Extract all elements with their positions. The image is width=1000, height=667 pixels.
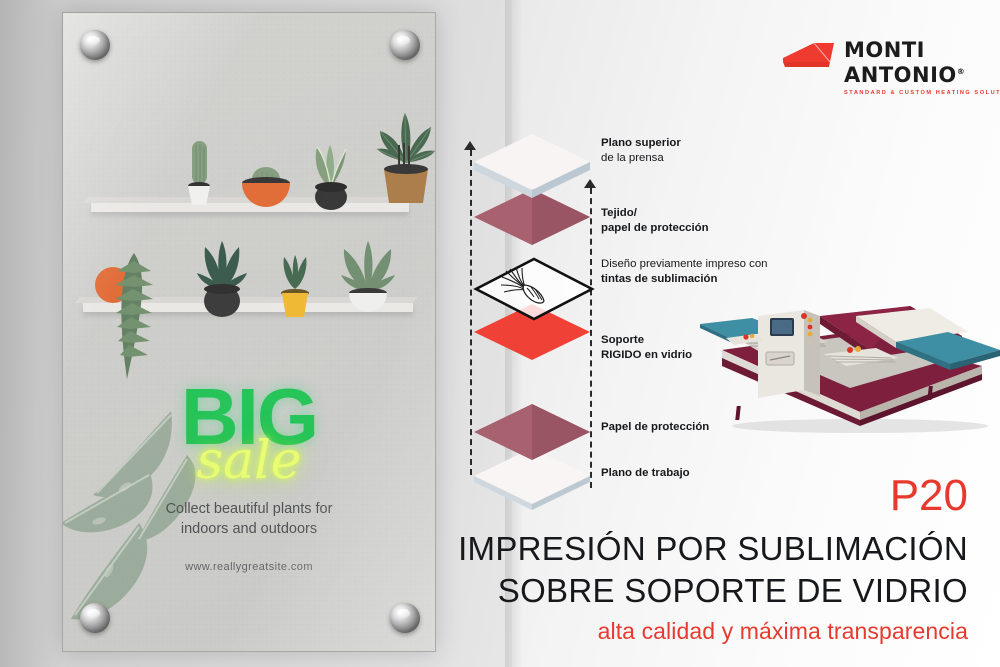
- poster-script-word: sale: [63, 431, 435, 491]
- brand-name-text: MONTI ANTONIO: [844, 38, 957, 87]
- plant-agave-black-pot: [191, 239, 253, 324]
- plant-snake-black-pot: [301, 141, 361, 216]
- brand-logo[interactable]: MONTI ANTONIO® STANDARD & CUSTOM HEATING…: [780, 40, 1000, 96]
- label-plano-superior-line2: de la prensa: [601, 152, 664, 164]
- headline-line1: IMPRESIÓN POR SUBLIMACIÓN: [458, 530, 968, 568]
- monti-antonio-mark-icon: [780, 40, 836, 74]
- standoff-bottom-right: [390, 603, 420, 633]
- label-tejido-papel-line1: Tejido/: [601, 207, 637, 219]
- layer-diseno-impreso: [472, 255, 596, 330]
- standoff-top-left: [80, 30, 110, 60]
- headline-subtitle: alta calidad y máxima transparencia: [598, 617, 968, 645]
- layer-plano-superior: [472, 128, 592, 205]
- plant-fern-hanging: [109, 251, 159, 386]
- poster-canvas: BIG sale Collect beautiful plants for in…: [0, 0, 1000, 667]
- poster-tagline-line1: Collect beautiful plants for: [63, 499, 435, 519]
- plant-ball-cactus-orange-bowl: [235, 161, 297, 214]
- model-number: P20: [890, 474, 968, 518]
- label-plano-trabajo: Plano de trabajo: [601, 466, 690, 481]
- headline-line2: SOBRE SOPORTE DE VIDRIO: [498, 572, 968, 610]
- label-tejido-papel-line2: papel de protección: [601, 222, 709, 234]
- label-soporte-rigido: Soporte RIGIDO en vidrio: [601, 333, 692, 363]
- label-diseno-impreso-line1: Diseño previamente impreso con: [601, 258, 768, 270]
- plant-succulent-yellow-pot: [271, 253, 319, 324]
- label-soporte-rigido-line2: RIGIDO en vidrio: [601, 349, 692, 361]
- poster-url: www.reallygreatsite.com: [63, 561, 435, 573]
- heat-press-machine-image: [700, 280, 1000, 440]
- label-plano-trabajo-line1: Plano de trabajo: [601, 467, 690, 479]
- label-plano-superior-line1: Plano superior: [601, 137, 681, 149]
- layer-papel-proteccion: [472, 400, 592, 465]
- glass-panel: BIG sale Collect beautiful plants for in…: [62, 12, 436, 652]
- poster-tagline-line2: indoors and outdoors: [63, 519, 435, 539]
- label-papel-proteccion-line1: Papel de protección: [601, 421, 709, 433]
- plant-cactus-white-pot: [175, 139, 223, 212]
- label-papel-proteccion: Papel de protección: [601, 420, 709, 435]
- plant-leafy-tan-pot: [371, 101, 436, 211]
- plant-spiky-white-pot: [335, 235, 401, 324]
- standoff-bottom-left: [80, 603, 110, 633]
- label-soporte-rigido-line1: Soporte: [601, 334, 644, 346]
- wall-vignette: [0, 0, 60, 667]
- brand-wordmark: MONTI ANTONIO®: [844, 40, 1000, 86]
- label-plano-superior: Plano superior de la prensa: [601, 136, 681, 166]
- standoff-top-right: [390, 30, 420, 60]
- printed-poster-artwork: BIG sale Collect beautiful plants for in…: [63, 13, 435, 651]
- brand-tagline: STANDARD & CUSTOM HEATING SOLUTIONS: [844, 90, 1000, 96]
- brand-registered-mark: ®: [957, 67, 966, 76]
- label-tejido-papel: Tejido/ papel de protección: [601, 206, 709, 236]
